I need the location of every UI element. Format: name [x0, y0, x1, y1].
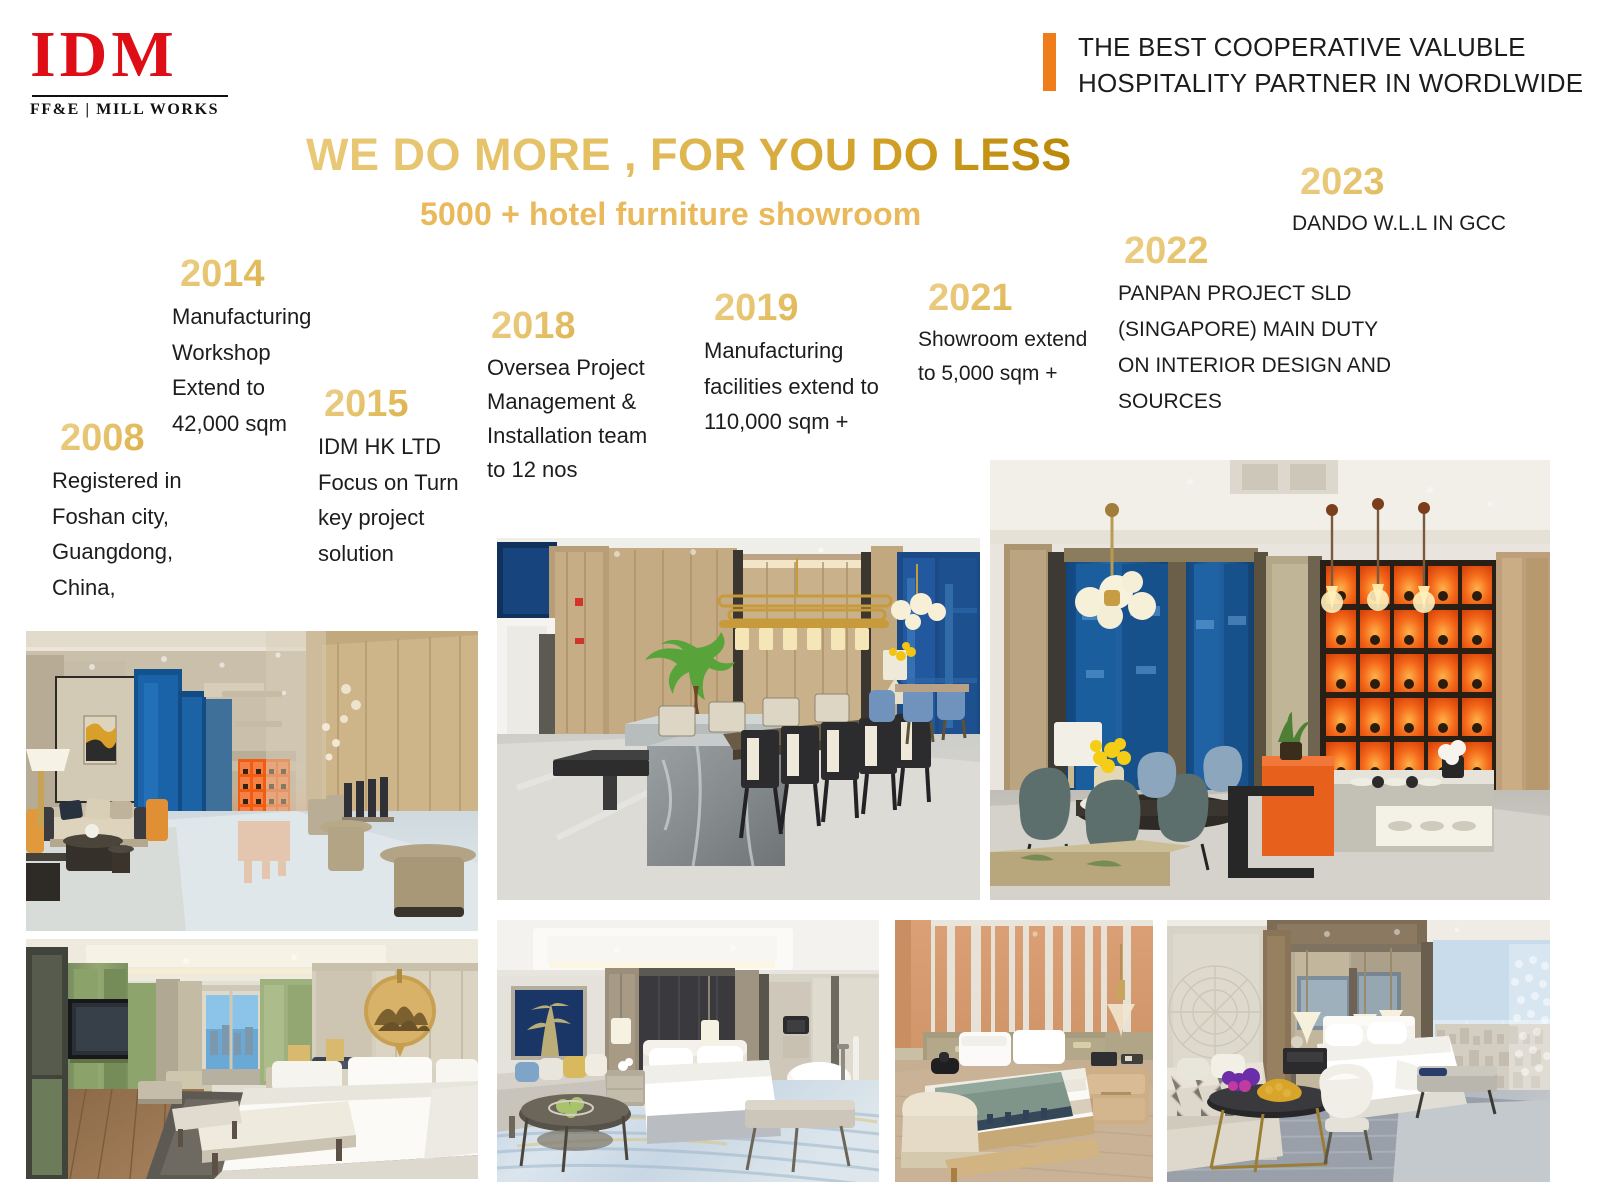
milestone-2023: 2023 DANDO W.L.L IN GCC [1292, 163, 1532, 241]
milestone-year: 2023 [1300, 163, 1532, 203]
milestone-year: 2019 [714, 289, 894, 329]
milestone-2021: 2021 Showroom extend to 5,000 sqm + [918, 279, 1108, 391]
idm-logo: IDM FF&E | MILL WORKS [30, 22, 240, 119]
photo-showroom-orange-display-wall [990, 460, 1550, 900]
photo-guestroom-peach-stripes [895, 920, 1153, 1182]
milestone-body: Manufacturing Workshop Extend to 42,000 … [172, 299, 337, 442]
milestone-body: Showroom extend to 5,000 sqm + [918, 323, 1108, 391]
tagline-line-2: HOSPITALITY PARTNER IN WORDLWIDE [1078, 66, 1583, 102]
logo-tagline: FF&E | MILL WORKS [30, 101, 240, 119]
photo-hotel-lobby-lounge [26, 631, 478, 931]
milestone-year: 2014 [180, 255, 337, 295]
milestone-2018: 2018 Oversea Project Management & Instal… [487, 307, 662, 487]
logo-divider [32, 95, 228, 97]
page-subtitle: 5000 + hotel furniture showroom [420, 196, 921, 233]
milestone-2015: 2015 IDM HK LTD Focus on Turn key projec… [318, 385, 478, 571]
header-tagline: THE BEST COOPERATIVE VALUBLE HOSPITALITY… [1043, 30, 1583, 102]
milestone-year: 2015 [324, 385, 478, 425]
milestone-body: Registered in Foshan city, Guangdong, Ch… [52, 463, 212, 606]
milestone-body: PANPAN PROJECT SLD (SINGAPORE) MAIN DUTY… [1118, 276, 1403, 420]
photo-twin-bed-guestroom-green [26, 939, 478, 1179]
milestone-year: 2018 [491, 307, 662, 347]
milestone-body: DANDO W.L.L IN GCC [1292, 207, 1532, 241]
accent-bar-icon [1043, 33, 1056, 91]
milestone-2022: 2022 PANPAN PROJECT SLD (SINGAPORE) MAIN… [1118, 232, 1403, 420]
milestone-body: IDM HK LTD Focus on Turn key project sol… [318, 429, 478, 572]
milestone-2008: 2008 Registered in Foshan city, Guangdon… [52, 419, 212, 605]
milestone-body: Manufacturing facilities extend to 110,0… [704, 333, 894, 440]
tagline-lines: THE BEST COOPERATIVE VALUBLE HOSPITALITY… [1078, 30, 1583, 102]
logo-wordmark: IDM [30, 22, 240, 88]
milestone-2014: 2014 Manufacturing Workshop Extend to 42… [172, 255, 337, 441]
photo-luxury-suite-city-view [1167, 920, 1550, 1182]
milestone-2019: 2019 Manufacturing facilities extend to … [704, 289, 894, 440]
milestone-body: Oversea Project Management & Installatio… [487, 351, 662, 487]
milestone-year: 2021 [928, 279, 1108, 319]
photo-long-dining-table-hall [497, 538, 980, 900]
page-title: WE DO MORE , FOR YOU DO LESS [306, 129, 1072, 181]
tagline-line-1: THE BEST COOPERATIVE VALUBLE [1078, 30, 1583, 66]
photo-king-suite-blue-carpet [497, 920, 879, 1182]
slide-root: IDM FF&E | MILL WORKS THE BEST COOPERATI… [0, 0, 1600, 1200]
